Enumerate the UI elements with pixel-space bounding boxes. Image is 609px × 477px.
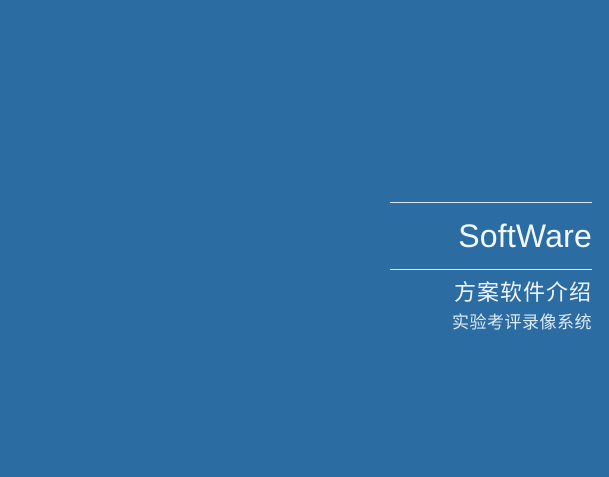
title-slide: SoftWare 方案软件介绍 实验考评录像系统 (0, 0, 609, 477)
subtitle: 方案软件介绍 (390, 277, 592, 309)
divider-bottom (390, 269, 592, 270)
page-title: SoftWare (390, 213, 592, 259)
caption: 实验考评录像系统 (390, 309, 592, 337)
title-block: SoftWare 方案软件介绍 实验考评录像系统 (390, 202, 592, 337)
divider-top (390, 202, 592, 203)
